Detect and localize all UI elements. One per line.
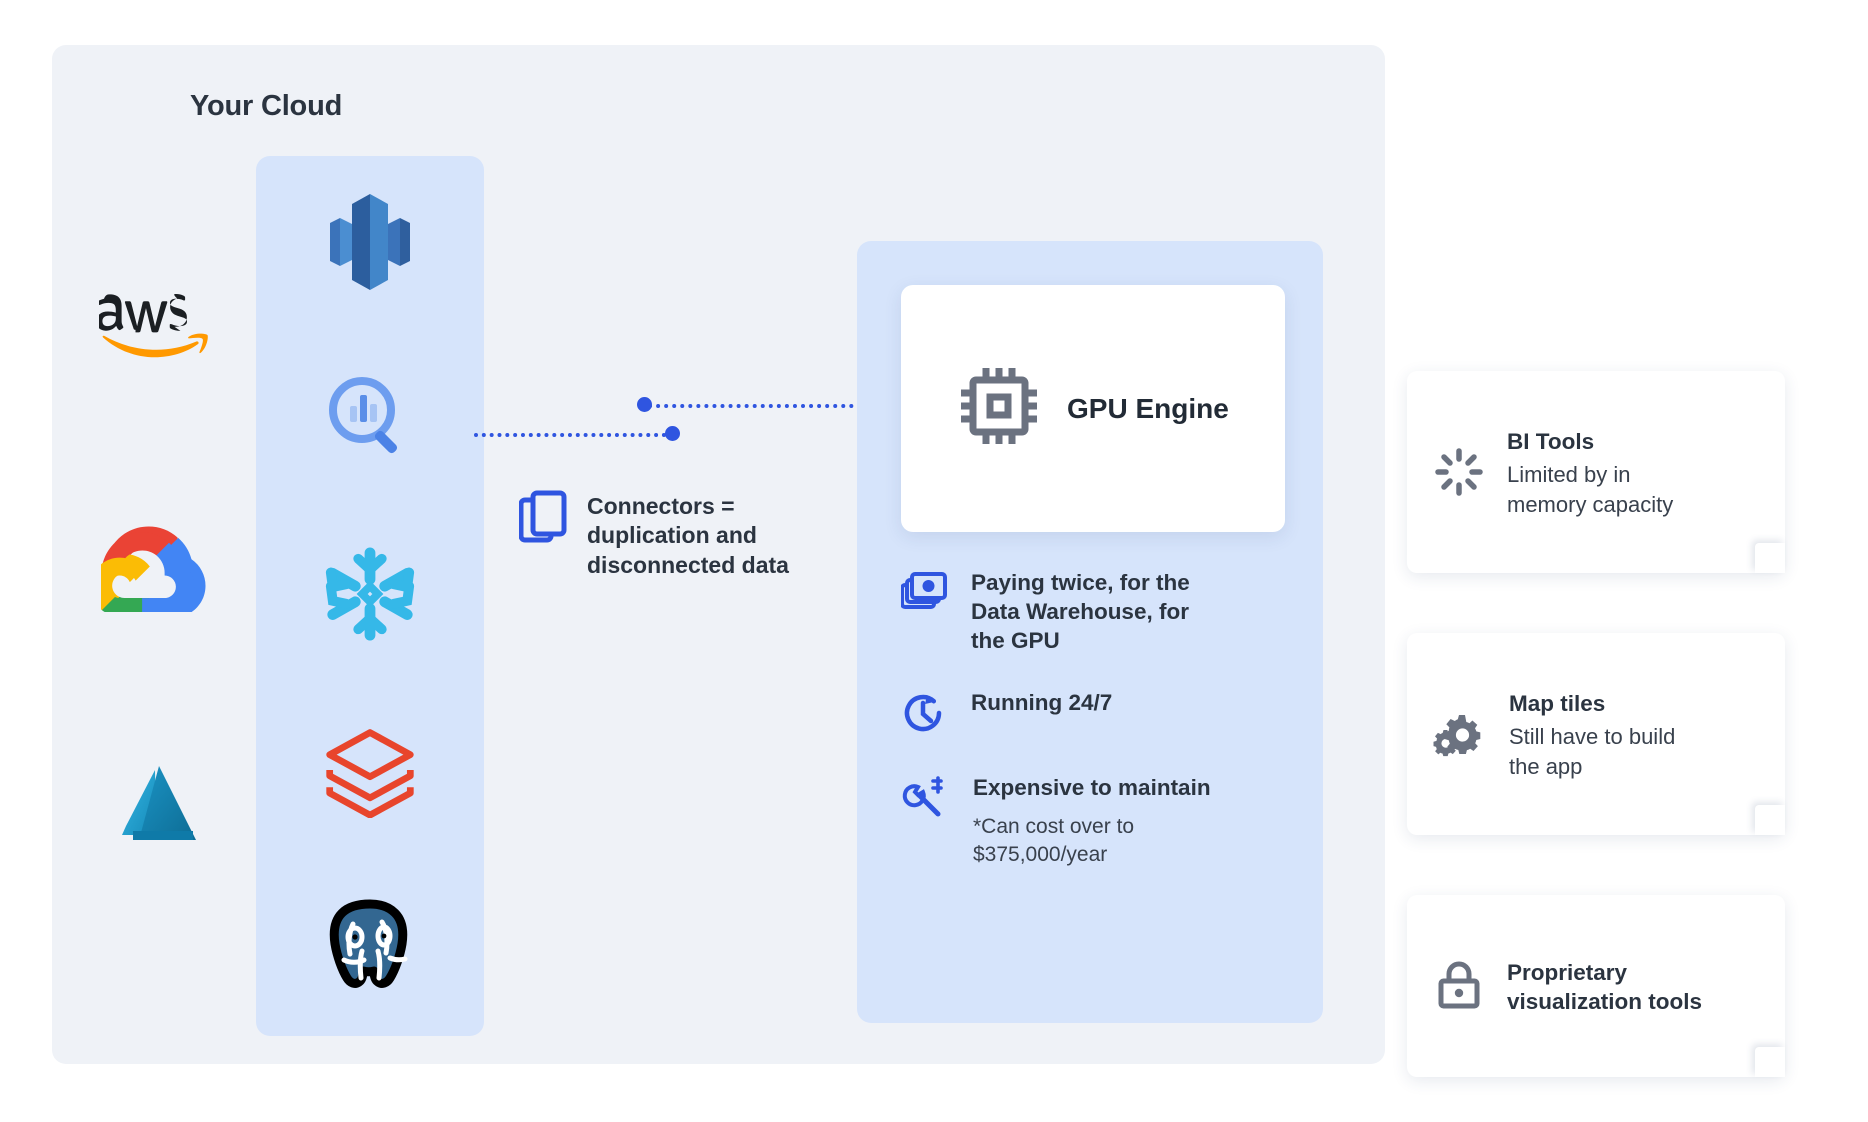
wrench-dollar-icon bbox=[901, 774, 949, 869]
postgresql-icon bbox=[320, 894, 420, 1003]
connector-dot-bottom bbox=[665, 426, 680, 441]
provider-azure bbox=[90, 690, 220, 930]
snowflake-icon bbox=[321, 545, 419, 648]
gpu-drawback-text: Running 24/7 bbox=[971, 689, 1112, 718]
gears-icon bbox=[1433, 707, 1487, 761]
note-card-bi-tools[interactable]: BI Tools Limited by in memory capacity bbox=[1407, 371, 1785, 573]
duplicate-documents-icon bbox=[519, 490, 567, 580]
gpu-drawback-expensive: Expensive to maintain *Can cost over to … bbox=[901, 774, 1301, 869]
gpu-engine-card: GPU Engine bbox=[901, 285, 1285, 532]
connector-line-bottom bbox=[474, 433, 674, 437]
data-source-postgresql bbox=[256, 860, 484, 1036]
amazon-athena-icon bbox=[324, 372, 416, 469]
aws-logo bbox=[99, 294, 211, 367]
note-card-description: Still have to build the app bbox=[1509, 722, 1675, 781]
note-card-map-tiles[interactable]: Map tiles Still have to build the app bbox=[1407, 633, 1785, 835]
gpu-drawback-text: Expensive to maintain bbox=[973, 774, 1211, 803]
provider-google-cloud bbox=[90, 450, 220, 690]
page-title: Your Cloud bbox=[190, 90, 342, 123]
azure-logo bbox=[103, 764, 207, 857]
gpu-drawback-subtext: *Can cost over to $375,000/year bbox=[973, 813, 1211, 869]
gpu-engine-label: GPU Engine bbox=[1067, 393, 1229, 425]
gpu-drawback-list: Paying twice, for the Data Warehouse, fo… bbox=[901, 569, 1301, 903]
note-card-title: BI Tools bbox=[1507, 427, 1673, 456]
gpu-drawback-paying-twice: Paying twice, for the Data Warehouse, fo… bbox=[901, 569, 1301, 655]
connector-dot-top bbox=[637, 397, 652, 412]
gpu-engine-panel: GPU Engine Paying twice, for the Data Wa… bbox=[857, 241, 1323, 1023]
diagram-canvas: Your Cloud bbox=[0, 0, 1868, 1122]
lock-icon bbox=[1433, 958, 1485, 1014]
cloud-provider-list bbox=[90, 210, 220, 930]
data-source-redshift bbox=[256, 156, 484, 332]
cpu-chip-icon bbox=[957, 364, 1041, 453]
provider-aws bbox=[90, 210, 220, 450]
gpu-drawback-text: Paying twice, for the Data Warehouse, fo… bbox=[971, 569, 1190, 655]
data-source-snowflake bbox=[256, 508, 484, 684]
gpu-drawback-running-247: Running 24/7 bbox=[901, 689, 1301, 740]
clock-refresh-icon bbox=[901, 689, 947, 740]
note-card-proprietary-viz[interactable]: Proprietary visualization tools bbox=[1407, 895, 1785, 1077]
note-card-description: Limited by in memory capacity bbox=[1507, 460, 1673, 519]
note-card-title: Map tiles bbox=[1509, 689, 1675, 718]
connectors-label: Connectors = duplication and disconnecte… bbox=[587, 490, 789, 580]
google-cloud-logo bbox=[101, 524, 209, 617]
amazon-redshift-icon bbox=[322, 190, 418, 299]
databricks-icon bbox=[321, 722, 419, 823]
connectors-annotation: Connectors = duplication and disconnecte… bbox=[519, 490, 789, 580]
loading-spinner-icon bbox=[1433, 446, 1485, 498]
data-source-athena bbox=[256, 332, 484, 508]
data-source-databricks bbox=[256, 684, 484, 860]
data-sources-column bbox=[256, 156, 484, 1036]
note-card-title: Proprietary visualization tools bbox=[1507, 958, 1702, 1017]
money-stack-icon bbox=[901, 569, 947, 655]
